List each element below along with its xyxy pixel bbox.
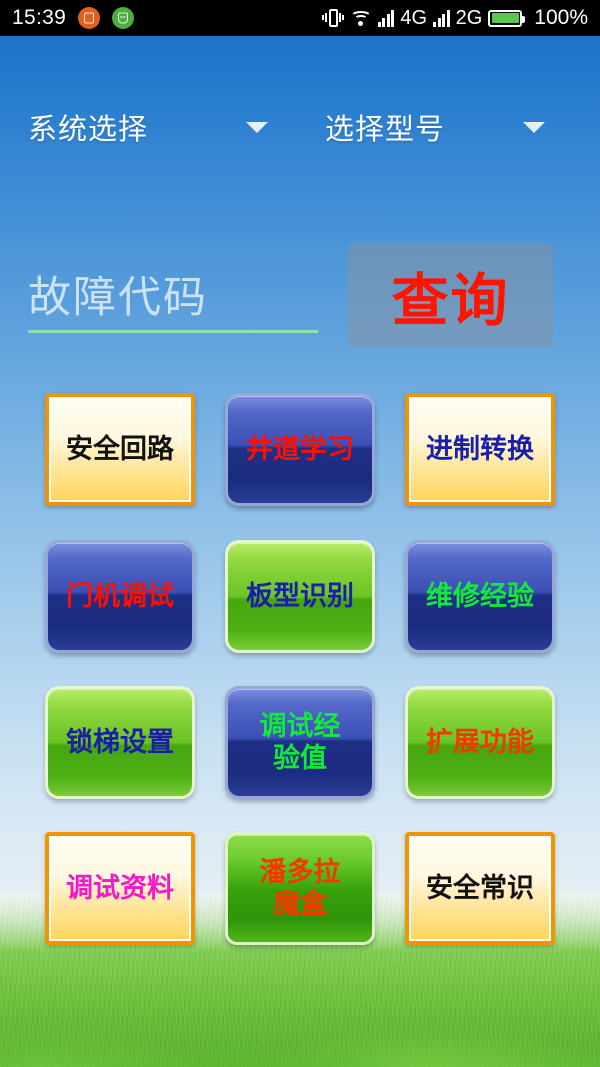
fault-code-placeholder: 故障代码: [28, 263, 208, 325]
battery-percent: 100%: [534, 6, 588, 30]
model-select-label: 选择型号: [325, 106, 445, 148]
network-type-1: 4G: [400, 7, 427, 30]
grid-button-label: 锁梯设置: [62, 727, 178, 759]
grid-button-pandora-box[interactable]: 潘多拉魔盒: [225, 832, 375, 945]
fault-code-input[interactable]: 故障代码: [28, 258, 318, 333]
grid-button-repair-experience[interactable]: 维修经验: [405, 540, 555, 653]
grid-button-label: 进制转换: [422, 434, 538, 466]
grid-button-label: 扩展功能: [422, 727, 538, 759]
grid-button-label: 板型识别: [242, 581, 358, 613]
status-indicators: 4G 2G 100%: [322, 6, 588, 30]
grid-button-safety-circuit[interactable]: 安全回路: [45, 393, 195, 506]
grid-button-lock-ladder-setting[interactable]: 锁梯设置: [45, 686, 195, 799]
grid-button-extended-functions[interactable]: 扩展功能: [405, 686, 555, 799]
grid-button-label: 维修经验: [422, 581, 538, 613]
grid-button-label: 潘多拉魔盒: [243, 857, 358, 921]
bottom-bar: 关于 技术支持 配件采购: [0, 970, 600, 1067]
status-clock: 15:39: [12, 6, 66, 30]
grid-button-label: 门机调试: [62, 581, 178, 613]
grid-button-debug-materials[interactable]: 调试资料: [45, 832, 195, 945]
grid-button-label: 调试经验值: [243, 711, 358, 775]
network-type-2: 2G: [456, 7, 483, 30]
system-select-dropdown[interactable]: 系统选择: [28, 104, 268, 150]
app-screen: 15:39 4G 2G 100%: [0, 0, 600, 1067]
grid-button-door-machine-debug[interactable]: 门机调试: [45, 540, 195, 653]
app-badge-orange-icon: [78, 7, 100, 29]
grid-button-label: 井道学习: [242, 434, 358, 466]
grid-button-debug-experience-value[interactable]: 调试经验值: [225, 686, 375, 799]
grid-button-label: 调试资料: [62, 873, 178, 905]
app-badge-green-icon: [112, 7, 134, 29]
grid-button-shaft-learning[interactable]: 井道学习: [225, 393, 375, 506]
query-button[interactable]: 查询: [348, 243, 553, 348]
grid-button-label: 安全常识: [422, 873, 538, 905]
grid-button-base-conversion[interactable]: 进制转换: [405, 393, 555, 506]
grid-button-safety-knowledge[interactable]: 安全常识: [405, 832, 555, 945]
vibrate-icon: [322, 8, 344, 28]
battery-icon: [488, 10, 522, 27]
grid-button-board-recognition[interactable]: 板型识别: [225, 540, 375, 653]
status-bar: 15:39 4G 2G 100%: [0, 0, 600, 36]
grid-button-label: 安全回路: [62, 434, 178, 466]
chevron-down-icon[interactable]: [523, 122, 545, 133]
signal-bars-1-icon: [378, 10, 395, 27]
system-select-label: 系统选择: [28, 106, 148, 148]
chevron-down-icon[interactable]: [246, 122, 268, 133]
model-select-dropdown[interactable]: 选择型号: [325, 104, 545, 150]
wifi-icon: [350, 9, 372, 27]
signal-bars-2-icon: [433, 10, 450, 27]
query-button-label: 查询: [392, 255, 510, 337]
